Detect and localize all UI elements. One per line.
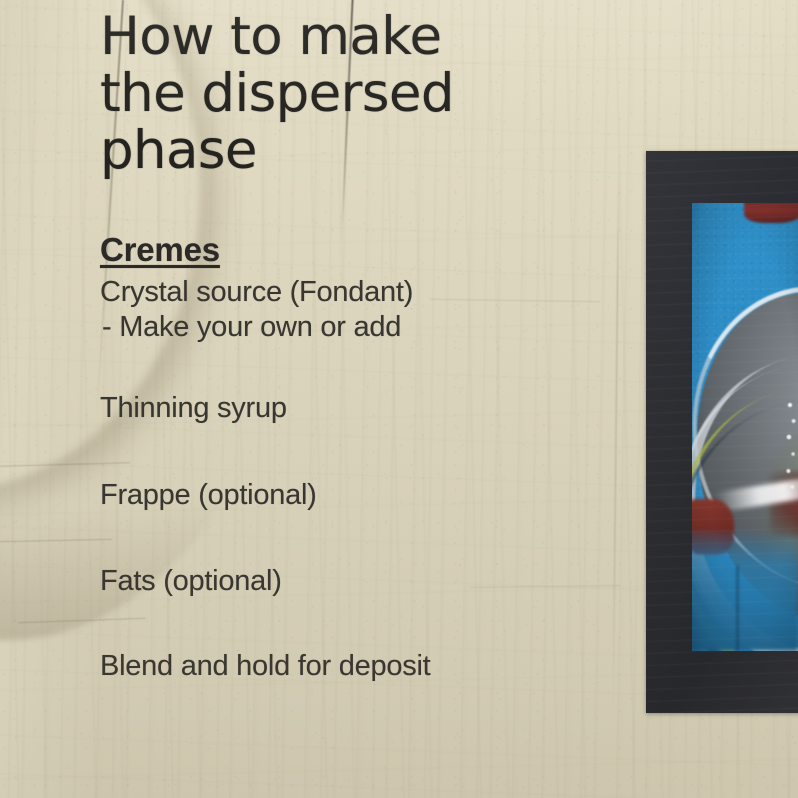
slide-title: How to make the dispersed phase	[100, 8, 540, 180]
body-line-make-your-own: - Make your own or add	[100, 310, 570, 344]
slide-photograph: How to make the dispersed phase Cremes C…	[0, 0, 798, 798]
body-line-frappe: Frappe (optional)	[100, 478, 570, 512]
slide-title-line-1: How to make	[100, 8, 540, 65]
section-heading-cremes: Cremes	[100, 232, 220, 269]
slide-title-line-3: phase	[100, 122, 540, 179]
body-line-crystal-source: Crystal source (Fondant)	[100, 275, 570, 309]
slide-title-line-2: the dispersed	[100, 65, 540, 122]
body-line-fats: Fats (optional)	[100, 564, 570, 598]
slide-text-layer: How to make the dispersed phase Cremes C…	[0, 0, 798, 798]
slide-body: Cremes Crystal source (Fondant) - Make y…	[100, 232, 570, 683]
body-line-thinning-syrup: Thinning syrup	[100, 391, 570, 425]
body-line-blend-and-hold: Blend and hold for deposit	[100, 649, 570, 683]
